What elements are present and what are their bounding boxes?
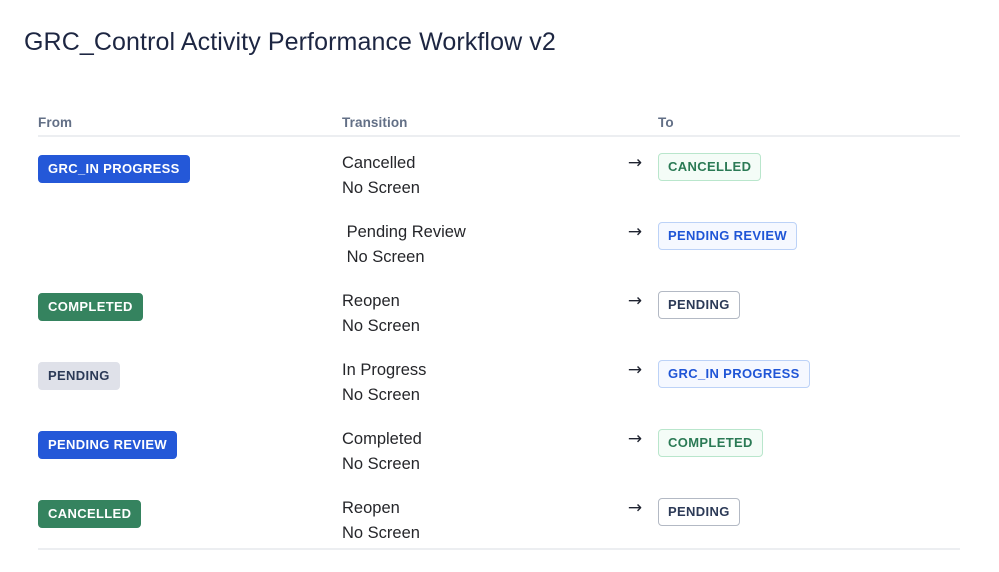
- cell-transition: ReopenNo Screen: [342, 482, 612, 546]
- status-badge-to[interactable]: CANCELLED: [658, 153, 761, 181]
- cell-to-status: PENDING: [658, 482, 960, 526]
- cell-arrow: →: [612, 413, 658, 452]
- status-badge-from[interactable]: GRC_IN PROGRESS: [38, 155, 190, 183]
- table-footer-divider: [38, 548, 960, 550]
- workflow-transitions-table: From Transition To GRC_IN PROGRESSCancel…: [38, 104, 960, 551]
- transition-screen: No Screen: [342, 452, 612, 477]
- column-header-to-label: To: [658, 115, 674, 130]
- status-badge-from[interactable]: PENDING REVIEW: [38, 431, 177, 459]
- cell-to-status: CANCELLED: [658, 137, 960, 181]
- arrow-right-icon: →: [628, 289, 642, 314]
- status-badge-to[interactable]: GRC_IN PROGRESS: [658, 360, 810, 388]
- table-row: COMPLETEDReopenNo Screen→PENDING: [38, 275, 960, 344]
- arrow-right-icon: →: [628, 496, 642, 521]
- status-badge-to[interactable]: COMPLETED: [658, 429, 763, 457]
- arrow-right-icon: →: [628, 427, 642, 452]
- cell-arrow: →: [612, 482, 658, 521]
- cell-to-status: GRC_IN PROGRESS: [658, 344, 960, 388]
- arrow-right-icon: →: [628, 358, 642, 383]
- cell-from-status: PENDING: [38, 344, 342, 390]
- cell-transition: Pending Review No Screen: [342, 206, 612, 270]
- cell-transition: CancelledNo Screen: [342, 137, 612, 201]
- table-row: CANCELLEDReopenNo Screen→PENDING: [38, 482, 960, 551]
- transition-name[interactable]: Completed: [342, 427, 612, 452]
- cell-from-status: CANCELLED: [38, 482, 342, 528]
- cell-arrow: →: [612, 275, 658, 314]
- status-badge-to[interactable]: PENDING: [658, 498, 740, 526]
- cell-arrow: →: [612, 344, 658, 383]
- cell-from-status: GRC_IN PROGRESS: [38, 137, 342, 183]
- cell-transition: ReopenNo Screen: [342, 275, 612, 339]
- transition-screen: No Screen: [342, 521, 612, 546]
- transition-name[interactable]: Cancelled: [342, 151, 612, 176]
- transition-screen: No Screen: [342, 176, 612, 201]
- cell-from-status: PENDING REVIEW: [38, 413, 342, 459]
- column-header-transition: Transition: [342, 114, 658, 132]
- cell-to-status: PENDING REVIEW: [658, 206, 960, 250]
- transition-screen: No Screen: [342, 245, 612, 270]
- column-header-from-label: From: [38, 115, 72, 130]
- table-row: Pending Review No Screen→PENDING REVIEW: [38, 206, 960, 275]
- workflow-page: GRC_Control Activity Performance Workflo…: [0, 0, 999, 572]
- cell-from-status: [38, 206, 342, 224]
- table-body: GRC_IN PROGRESSCancelledNo Screen→CANCEL…: [38, 137, 960, 551]
- table-row: GRC_IN PROGRESSCancelledNo Screen→CANCEL…: [38, 137, 960, 206]
- transition-name[interactable]: Reopen: [342, 289, 612, 314]
- status-badge-from[interactable]: COMPLETED: [38, 293, 143, 321]
- table-header-row: From Transition To: [38, 104, 960, 137]
- cell-to-status: PENDING: [658, 275, 960, 319]
- status-badge-from[interactable]: PENDING: [38, 362, 120, 390]
- arrow-right-icon: →: [628, 151, 642, 176]
- transition-name[interactable]: Pending Review: [342, 220, 612, 245]
- transition-name[interactable]: In Progress: [342, 358, 612, 383]
- arrow-right-icon: →: [628, 220, 642, 245]
- cell-from-status: COMPLETED: [38, 275, 342, 321]
- transition-screen: No Screen: [342, 314, 612, 339]
- table-row: PENDINGIn ProgressNo Screen→GRC_IN PROGR…: [38, 344, 960, 413]
- page-title: GRC_Control Activity Performance Workflo…: [24, 26, 556, 58]
- status-badge-to[interactable]: PENDING: [658, 291, 740, 319]
- cell-to-status: COMPLETED: [658, 413, 960, 457]
- transition-name[interactable]: Reopen: [342, 496, 612, 521]
- column-header-to: To: [658, 114, 960, 132]
- status-badge-from[interactable]: CANCELLED: [38, 500, 141, 528]
- cell-transition: CompletedNo Screen: [342, 413, 612, 477]
- column-header-transition-label: Transition: [342, 115, 408, 130]
- cell-transition: In ProgressNo Screen: [342, 344, 612, 408]
- column-header-from: From: [38, 114, 342, 132]
- cell-arrow: →: [612, 206, 658, 245]
- cell-arrow: →: [612, 137, 658, 176]
- table-row: PENDING REVIEWCompletedNo Screen→COMPLET…: [38, 413, 960, 482]
- transition-screen: No Screen: [342, 383, 612, 408]
- status-badge-to[interactable]: PENDING REVIEW: [658, 222, 797, 250]
